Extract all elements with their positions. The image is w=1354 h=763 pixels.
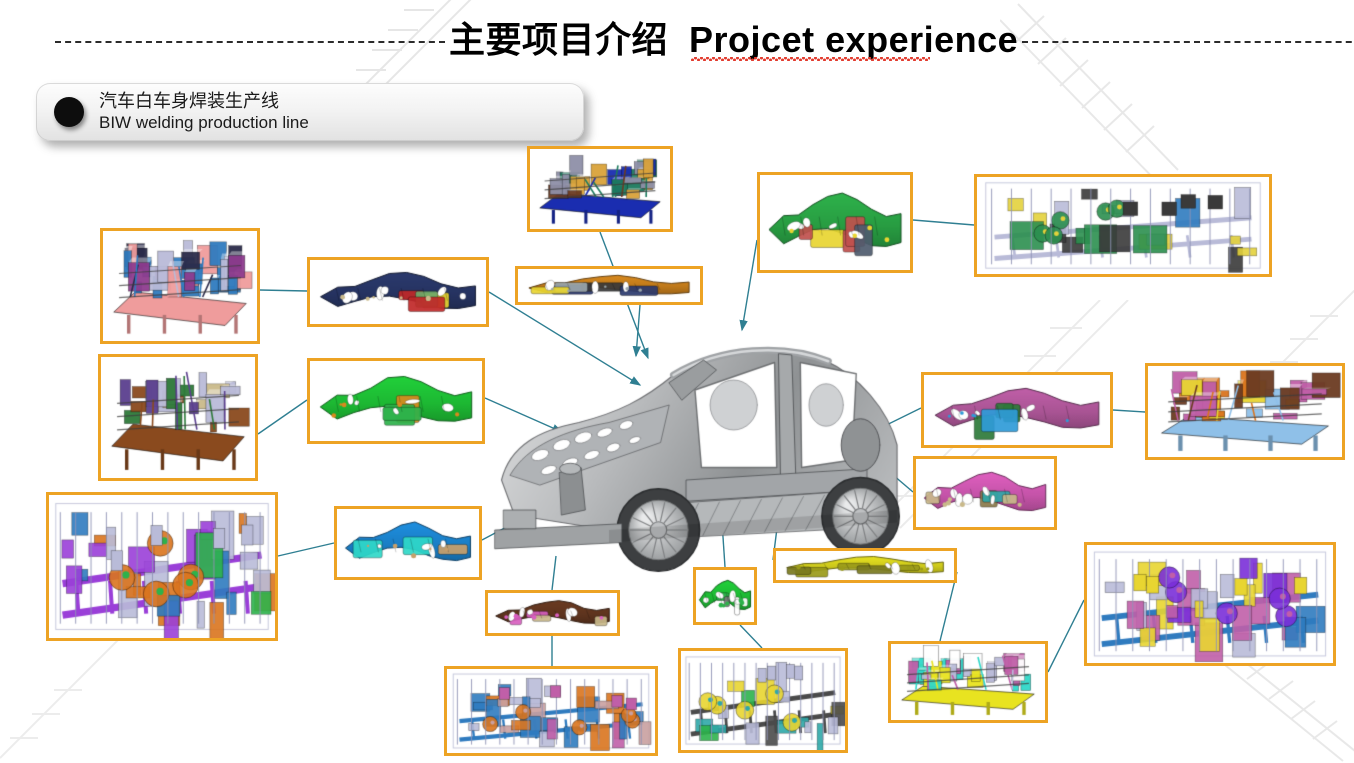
rear-floor-green-part-canvas [310,361,482,441]
thumbnail-roof-rail-tool-part[interactable] [485,590,620,636]
robot-cell-table-fixture-canvas [101,357,255,478]
framing-station-pink-base-canvas [103,231,257,341]
thumbnail-b-pillar-part[interactable] [913,456,1057,530]
thumbnail-rear-floor-green-part[interactable] [307,358,485,444]
dash-panel-blue-part-canvas [337,509,479,577]
thumbnail-side-member-assembly[interactable] [921,372,1113,448]
thumbnail-enclosed-robot-cell-3d[interactable] [678,648,848,753]
thumbnail-a-pillar-pair-part[interactable] [307,257,489,327]
connector-line [740,625,762,648]
thumbnail-dash-panel-blue-part[interactable] [334,506,482,580]
welding-fixture-blue-panel-canvas [530,149,670,229]
robotic-welding-cell-3d-canvas [49,495,275,638]
thumbnail-robotic-welding-cell-3d[interactable] [46,492,278,641]
side-member-assembly-canvas [924,375,1110,445]
connector-line [913,220,974,225]
slide-canvas: 主要项目介绍 Projcet experience 汽车白车身焊装生产线 BIW… [0,0,1354,763]
thumbnail-rear-frame-green-assembly[interactable] [757,172,913,273]
thumbnail-assembly-line-overview-3d[interactable] [1084,542,1336,666]
thumbnail-multi-station-welding-line[interactable] [444,666,658,756]
thumbnail-side-member-welding-station[interactable] [1145,363,1345,460]
thumbnail-rocker-welding-fixture[interactable] [888,641,1048,723]
thumbnail-rocker-panel-yellow-part[interactable] [773,548,957,583]
connector-line [742,240,757,330]
hero-car-image [480,330,910,580]
thumbnail-front-rail-part[interactable] [515,266,703,305]
production-line-layout-plan-canvas [977,177,1269,274]
connector-line [1048,600,1084,672]
thumbnail-robot-cell-table-fixture[interactable] [98,354,258,481]
hero-car-canvas [480,330,910,580]
roof-rail-tool-part-canvas [488,593,617,633]
thumbnail-framing-station-pink-base[interactable] [100,228,260,344]
connector-line [1113,410,1145,412]
rear-frame-green-assembly-canvas [760,175,910,270]
front-rail-part-canvas [518,269,700,302]
thumbnail-production-line-layout-plan[interactable] [974,174,1272,277]
rocker-panel-yellow-part-canvas [776,551,954,580]
b-pillar-part-canvas [916,459,1054,527]
connector-line [278,543,334,556]
rocker-welding-fixture-canvas [891,644,1045,720]
side-member-welding-station-canvas [1148,366,1342,457]
assembly-line-overview-3d-canvas [1087,545,1333,663]
bracket-green-part-canvas [696,570,754,622]
enclosed-robot-cell-3d-canvas [681,651,845,750]
connector-line [260,290,307,291]
thumbnail-welding-fixture-blue-panel[interactable] [527,146,673,232]
connector-line [258,400,307,434]
multi-station-welding-line-canvas [447,669,655,753]
a-pillar-pair-part-canvas [310,260,486,324]
thumbnail-bracket-green-part[interactable] [693,567,757,625]
